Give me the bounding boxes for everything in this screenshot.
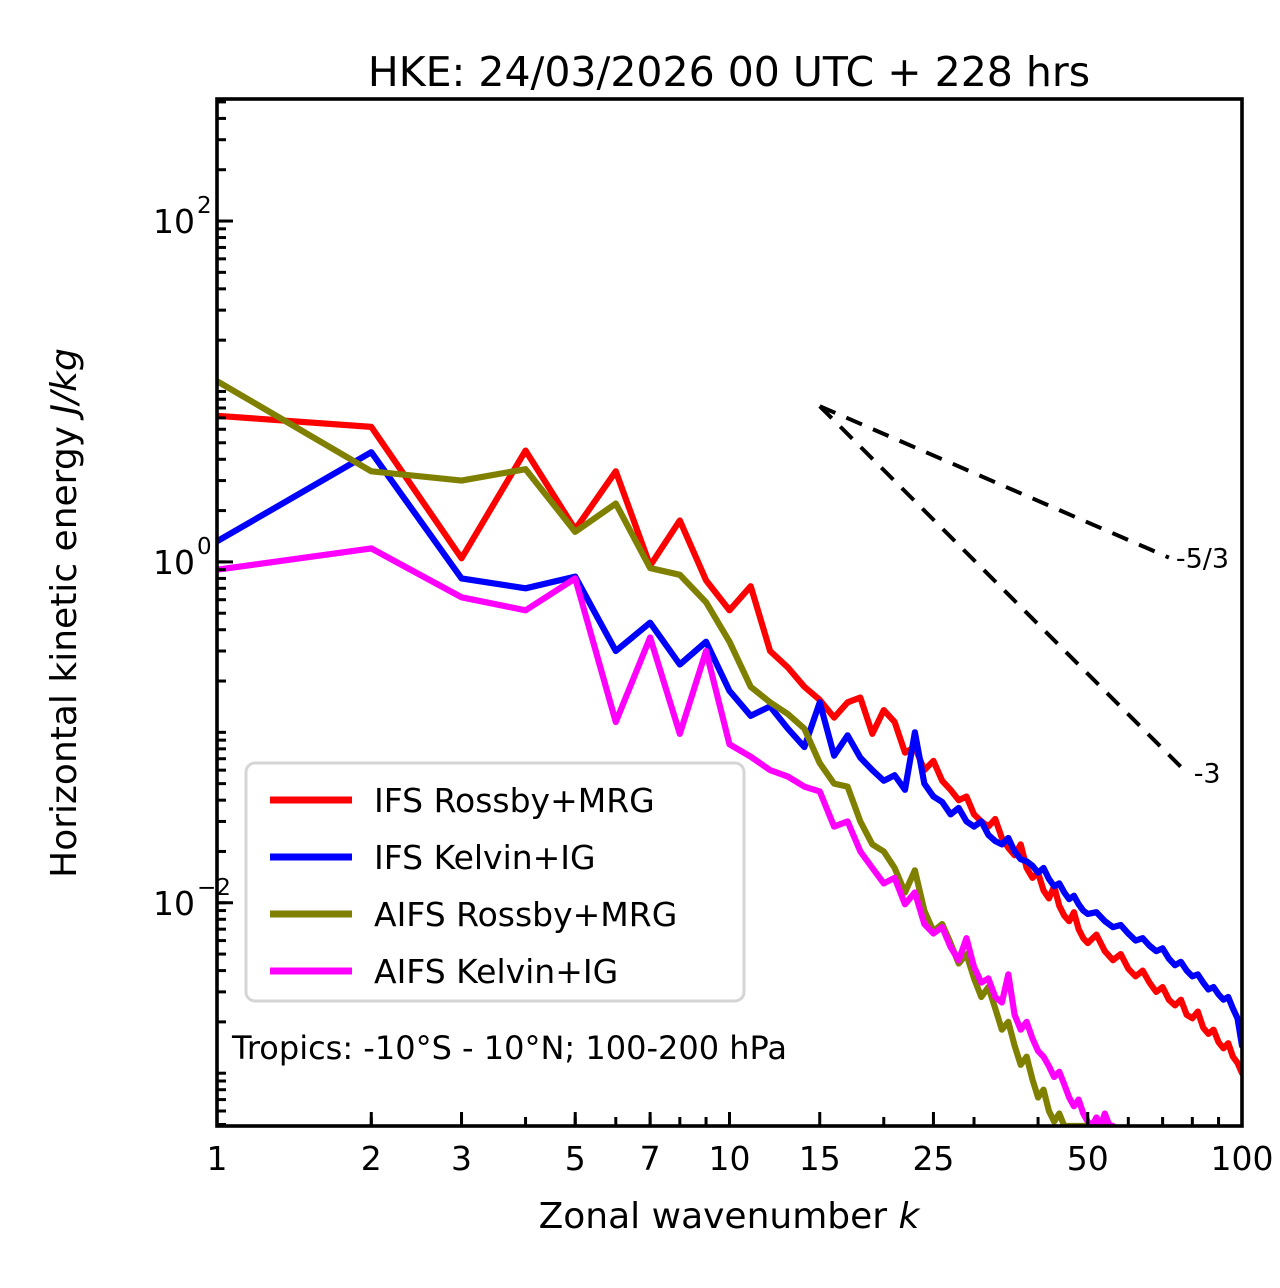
page-title: HKE: 24/03/2026 00 UTC + 228 hrs	[368, 48, 1090, 96]
x-tick-label-15: 15	[799, 1139, 841, 1178]
chart-figure: HKE: 24/03/2026 00 UTC + 228 hrs Horizon…	[0, 0, 1280, 1288]
y-tick-label-2: 10	[153, 884, 195, 923]
legend[interactable]: IFS Rossby+MRGIFS Kelvin+IGAIFS Rossby+M…	[246, 763, 744, 1001]
svg-text:Horizontal kinetic energy J/kg: Horizontal kinetic energy J/kg	[44, 348, 85, 878]
y-tick-label-1: 10	[153, 543, 195, 582]
x-tick-label-7: 7	[640, 1139, 661, 1178]
x-tick-label-2: 2	[361, 1139, 382, 1178]
slope-label-1: -3	[1194, 759, 1221, 790]
x-tick-label-10: 10	[709, 1139, 751, 1178]
legend-label-0[interactable]: IFS Rossby+MRG	[374, 781, 655, 820]
x-tick-label-25: 25	[912, 1139, 954, 1178]
y-axis-label: Horizontal kinetic energy J/kg	[44, 348, 85, 878]
y-axis-label-main: Horizontal kinetic energy	[44, 415, 85, 878]
legend-label-3[interactable]: AIFS Kelvin+IG	[374, 952, 618, 991]
x-axis-label: Zonal wavenumber k	[539, 1196, 922, 1237]
x-tick-label-50: 50	[1067, 1139, 1109, 1178]
x-tick-label-3: 3	[451, 1139, 472, 1178]
y-tick-exponent-0: 2	[197, 193, 212, 219]
x-tick-label-5: 5	[565, 1139, 586, 1178]
x-tick-label-1: 1	[207, 1139, 228, 1178]
legend-label-1[interactable]: IFS Kelvin+IG	[374, 838, 596, 877]
slope-label-0: -5/3	[1176, 544, 1229, 575]
y-tick-exponent-1: 0	[197, 534, 212, 560]
x-tick-label-100: 100	[1211, 1139, 1274, 1178]
figure-background	[0, 0, 1280, 1288]
spectrum-plot: HKE: 24/03/2026 00 UTC + 228 hrs Horizon…	[0, 0, 1280, 1288]
region-annotation: Tropics: -10°S - 10°N; 100-200 hPa	[231, 1029, 787, 1067]
legend-label-2[interactable]: AIFS Rossby+MRG	[374, 895, 677, 934]
y-axis-label-unit: J/kg	[44, 348, 85, 420]
y-tick-exponent-2: −2	[197, 875, 231, 901]
y-tick-label-0: 10	[153, 202, 195, 241]
